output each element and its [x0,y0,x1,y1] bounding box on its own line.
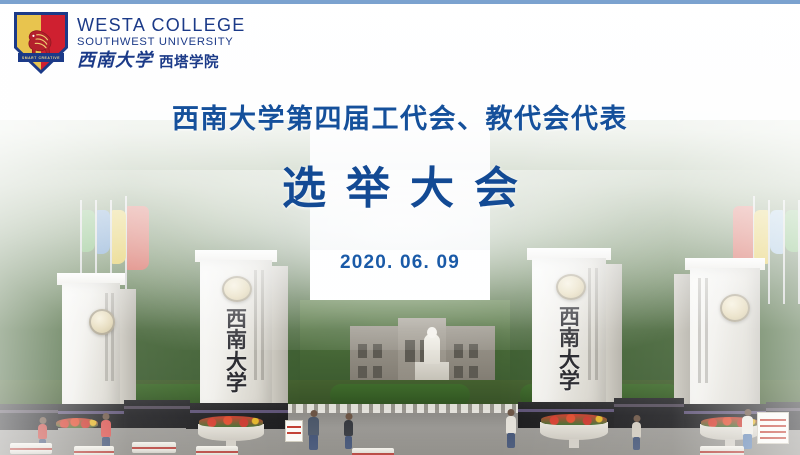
brand-chinese-row: 西南大学 西塔学院 [77,52,246,70]
event-date: 2020. 06. 09 [0,252,800,274]
brand-lockup: SMART CREATIVE WESTA COLLEGE SOUTHWEST U… [14,12,246,74]
top-accent-bar [0,0,800,4]
event-subtitle: 西南大学第四届工代会、教代会代表 [0,97,800,136]
brand-english-primary: WESTA COLLEGE [77,16,246,34]
westa-college-shield-icon: SMART CREATIVE [14,12,68,74]
banner-canvas: 西南大学 西南大学 [0,0,800,455]
bottom-vignette [0,415,800,455]
brand-wordmark: WESTA COLLEGE SOUTHWEST UNIVERSITY 西南大学 … [77,16,246,70]
brand-chinese-sub: 西塔学院 [159,56,219,71]
shield-motto-ribbon: SMART CREATIVE [18,53,64,62]
brand-english-secondary: SOUTHWEST UNIVERSITY [77,37,246,48]
event-headline: 选举大会 [0,152,800,216]
brand-chinese-main: 西南大学 [77,52,153,70]
shield-motto-text: SMART CREATIVE [22,56,60,60]
